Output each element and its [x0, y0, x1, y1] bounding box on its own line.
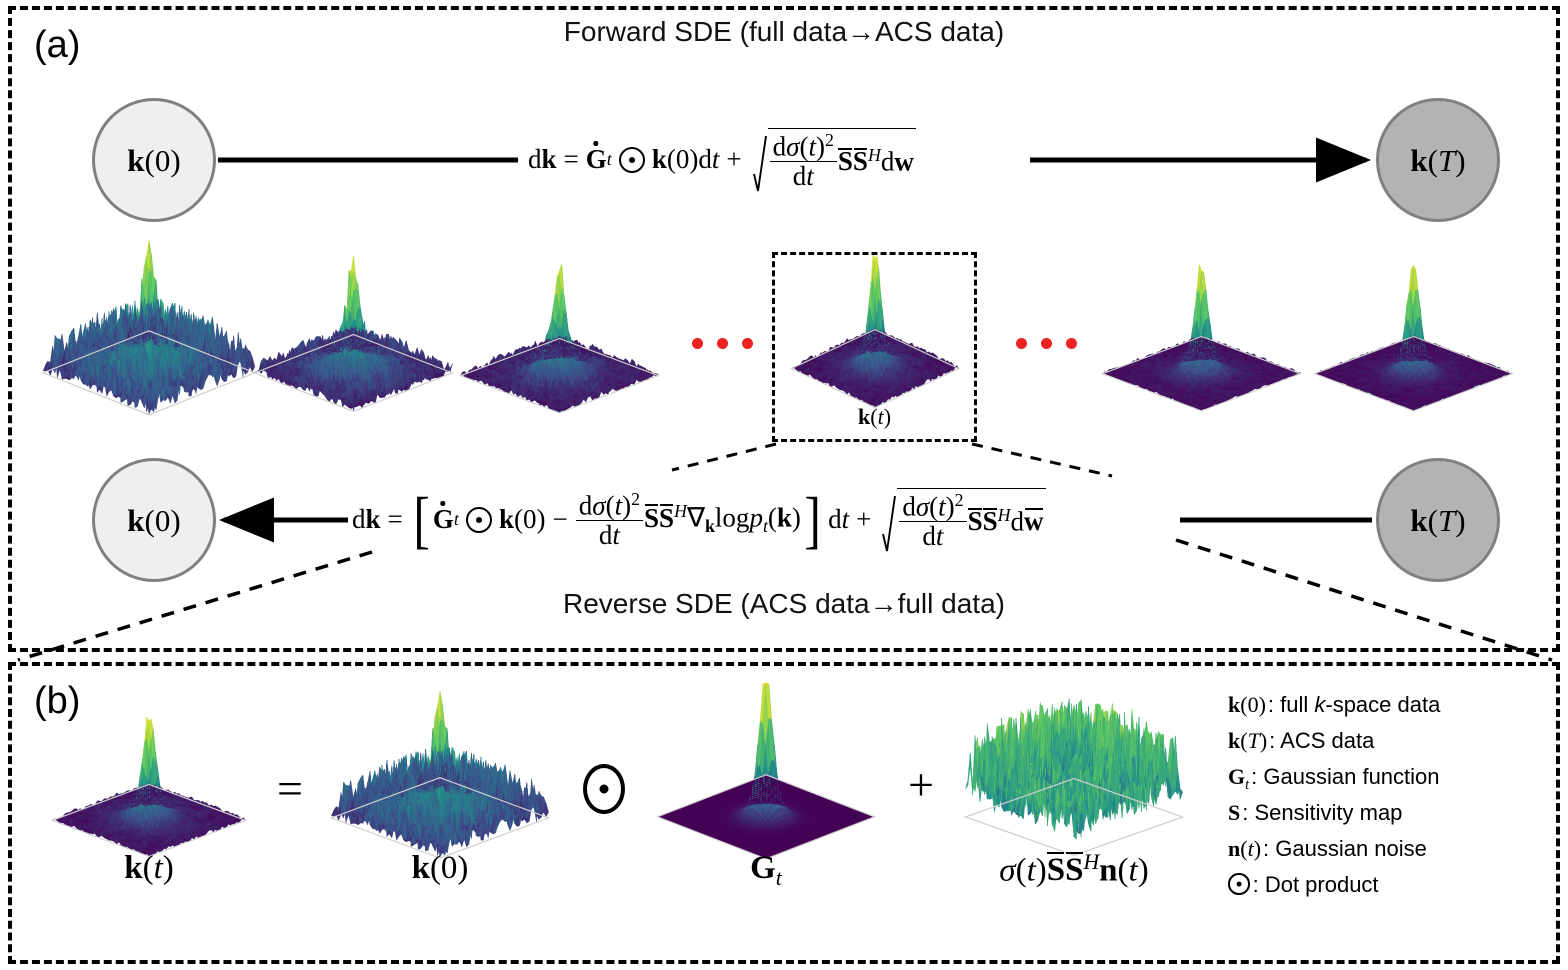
reverse-sde-equation: dk= [ Gt k(0) − dσ(t)2 dt SSH∇klogpt(k) …	[352, 488, 1048, 552]
legend-text: : ACS data	[1269, 728, 1374, 754]
node-k0-reverse-end: k(0)	[92, 458, 216, 582]
surface-plot-forward-2	[246, 268, 461, 396]
surface-plot-forward-5	[1094, 272, 1309, 396]
dot-product-icon	[466, 507, 492, 533]
node-label: k(T)	[1410, 505, 1465, 536]
legend-container: k(0) : full k-space data k(T) : ACS data…	[1228, 692, 1548, 908]
reverse-sde-title: Reverse SDE (ACS data→full data)	[0, 588, 1568, 620]
panel-b-label-noise: σ(t)SSHn(t)	[946, 850, 1202, 889]
legend-symbol: n(t)	[1228, 836, 1261, 862]
legend-item-Gt: Gt : Gaussian function	[1228, 764, 1548, 800]
node-kT-reverse-start: k(T)	[1376, 458, 1500, 582]
surface-plot-forward-6	[1306, 272, 1521, 396]
legend-text: : Sensitivity map	[1242, 800, 1402, 826]
legend-symbol: S	[1228, 800, 1240, 826]
legend-item-kT: k(T) : ACS data	[1228, 728, 1548, 764]
legend-symbol	[1228, 873, 1251, 899]
operator-equals: =	[262, 762, 318, 815]
ellipsis-left	[692, 338, 753, 349]
legend-symbol: k(T)	[1228, 728, 1267, 754]
node-label: k(0)	[127, 145, 180, 176]
legend-symbol: k(0)	[1228, 692, 1266, 718]
legend-symbol: Gt	[1228, 764, 1249, 794]
legend-text: : Gaussian function	[1251, 764, 1439, 790]
node-label: k(T)	[1410, 145, 1465, 176]
kt-box-label: k(t)	[772, 404, 977, 430]
legend-item-n: n(t) : Gaussian noise	[1228, 836, 1548, 872]
surface-plot-b-gaussian	[648, 702, 884, 842]
legend-text: : Dot product	[1253, 872, 1379, 898]
panel-b-label-gt: Gt	[648, 850, 884, 891]
surface-plot-forward-1	[34, 258, 264, 398]
operator-dot-product	[566, 758, 642, 814]
legend-text: : full k-space data	[1268, 692, 1440, 718]
panel-b-label: (b)	[34, 680, 80, 723]
ellipsis-right	[1016, 338, 1077, 349]
legend-item-k0: k(0) : full k-space data	[1228, 692, 1548, 728]
operator-plus: +	[890, 758, 952, 811]
legend-item-S: S : Sensitivity map	[1228, 800, 1548, 836]
surface-plot-b-noise	[956, 712, 1192, 840]
node-kT-forward-end: k(T)	[1376, 98, 1500, 222]
dot-product-icon	[583, 764, 625, 814]
surface-plot-forward-3	[452, 274, 667, 398]
figure-root: (a) Forward SDE (full data→ACS data) Rev…	[0, 0, 1568, 970]
panel-b-label-kt: k(t)	[44, 850, 254, 887]
surface-plot-b-k0	[322, 708, 558, 842]
legend-item-dot: : Dot product	[1228, 872, 1548, 908]
legend-text: : Gaussian noise	[1263, 836, 1427, 862]
node-k0-forward-start: k(0)	[92, 98, 216, 222]
forward-sde-equation: dk= Gt k(0)dt + dσ(t)2 dt SSHdw	[528, 128, 918, 192]
panel-b-label-k0: k(0)	[322, 850, 558, 887]
node-label: k(0)	[127, 505, 180, 536]
dot-product-icon	[619, 147, 645, 173]
surface-plot-b-kt	[44, 722, 254, 842]
forward-sde-title: Forward SDE (full data→ACS data)	[0, 16, 1568, 48]
